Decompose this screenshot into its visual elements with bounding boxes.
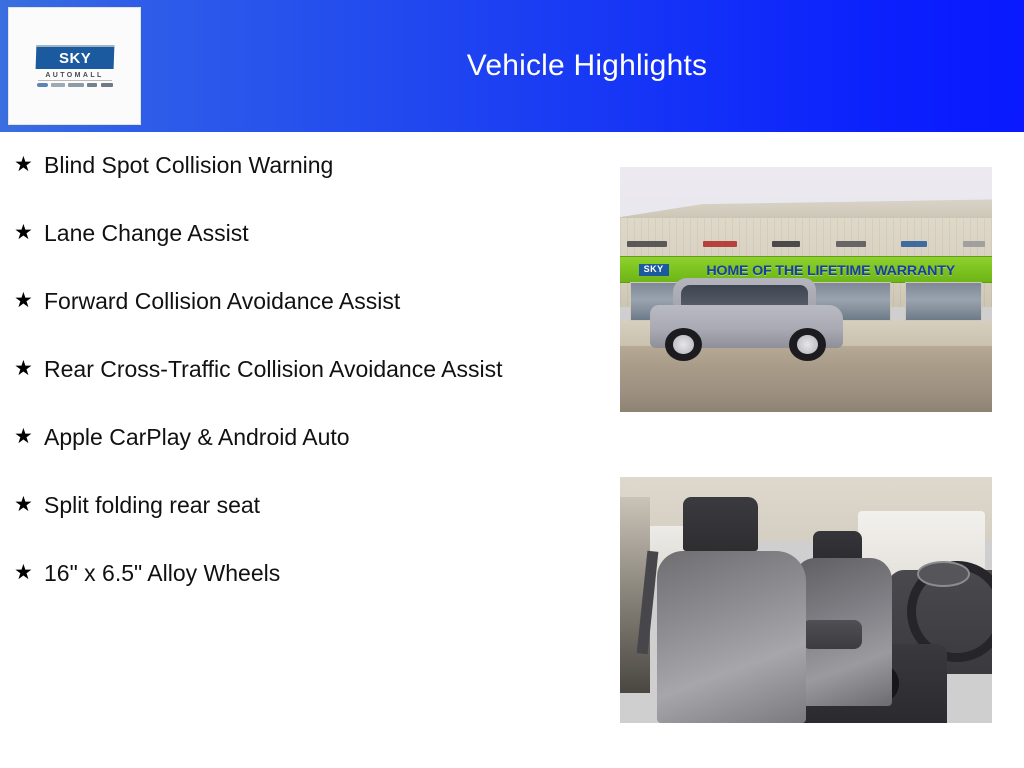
sign-extra-icon [963,241,985,247]
star-icon: ★ [14,286,44,316]
sign-sky-icon [901,241,927,247]
window-pane [905,282,983,321]
interior-driver-headrest [683,497,757,551]
list-item: ★ Forward Collision Avoidance Assist [14,286,594,316]
sign-dodge-icon [703,241,737,247]
sky-logo-text: SKY [58,50,90,67]
brand-mark-chrysler-icon [37,83,48,87]
star-icon: ★ [14,558,44,588]
sign-jeep-icon [772,241,800,247]
brand-mark-fiat-icon [101,83,113,87]
brand-mark-ram-icon [68,83,84,87]
logo-brand-strip [37,83,113,87]
interior-driver-seat [657,551,806,723]
logo-divider [38,80,112,81]
automall-logo-text: AUTOMALL [45,72,103,79]
highlight-label: Split folding rear seat [44,490,260,520]
vehicle-front-wheel [665,328,702,361]
page-title: Vehicle Highlights [150,0,1024,132]
dealer-logo: SKY AUTOMALL [33,45,117,87]
banner-warranty-text: HOME OF THE LIFETIME WARRANTY [665,262,992,278]
vehicle-rear-wheel [789,328,826,361]
sign-chrysler-icon [627,241,667,247]
list-item: ★ Lane Change Assist [14,218,594,248]
highlight-label: Lane Change Assist [44,218,249,248]
photo-vehicle [650,280,843,363]
list-item: ★ 16" x 6.5" Alloy Wheels [14,558,594,588]
vehicle-highlights-list: ★ Blind Spot Collision Warning ★ Lane Ch… [14,150,594,626]
vehicle-interior-photo [620,477,992,723]
sign-ram-icon [836,241,866,247]
star-icon: ★ [14,218,44,248]
star-icon: ★ [14,150,44,180]
interior-armrest [802,620,862,650]
highlight-label: Forward Collision Avoidance Assist [44,286,400,316]
star-icon: ★ [14,490,44,520]
vehicle-exterior-photo: SKY HOME OF THE LIFETIME WARRANTY [620,167,992,412]
banner-sky-logo: SKY [639,264,669,276]
list-item: ★ Split folding rear seat [14,490,594,520]
sky-logo-banner: SKY [35,45,114,69]
photo-brand-signage [627,236,984,253]
interior-air-vent-icon [917,561,969,587]
list-item: ★ Rear Cross-Traffic Collision Avoidance… [14,354,594,384]
star-icon: ★ [14,422,44,452]
brand-mark-jeep-icon [87,83,97,87]
list-item: ★ Apple CarPlay & Android Auto [14,422,594,452]
highlight-label: Rear Cross-Traffic Collision Avoidance A… [44,354,502,384]
highlight-label: 16" x 6.5" Alloy Wheels [44,558,280,588]
dealer-logo-card: SKY AUTOMALL [8,7,141,125]
page-header: Vehicle Highlights [0,0,1024,132]
list-item: ★ Blind Spot Collision Warning [14,150,594,180]
brand-mark-dodge-icon [51,83,65,87]
highlight-label: Blind Spot Collision Warning [44,150,333,180]
star-icon: ★ [14,354,44,384]
highlight-label: Apple CarPlay & Android Auto [44,422,350,452]
